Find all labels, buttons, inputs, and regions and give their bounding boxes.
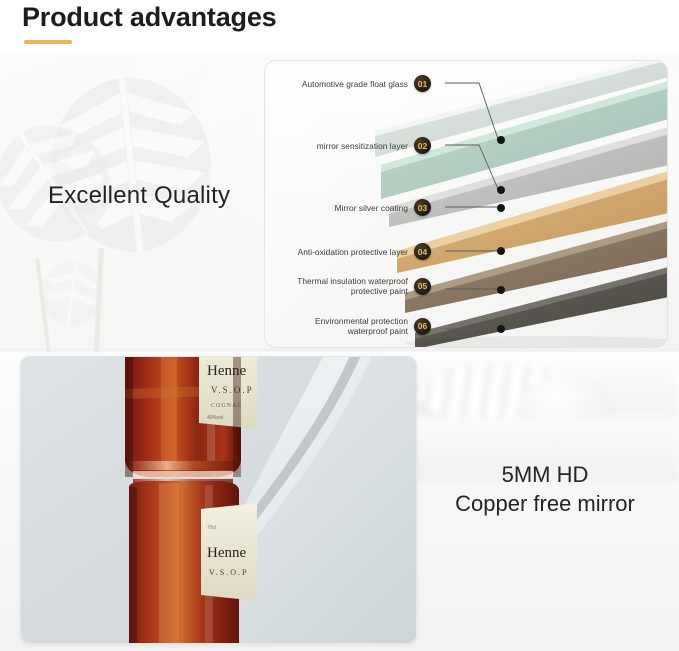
caption-line-1: 5MM HD (420, 460, 670, 489)
mirror-product-photo: Henne V.S.O.P COGNAC 40%vol 70cl Henne V… (20, 356, 417, 644)
layer-label-text: mirror sensitization layer (317, 141, 408, 151)
layer-number-badge: 03 (414, 199, 431, 216)
sofa-seam (410, 432, 560, 462)
layer-label-text: Mirror silver coating (335, 203, 408, 213)
layer-number-badge: 05 (414, 278, 431, 295)
svg-text:V.S.O.P: V.S.O.P (209, 568, 248, 577)
layer-number-badge: 06 (414, 318, 431, 335)
layer-number-badge: 01 (414, 75, 431, 92)
svg-text:V.S.O.P: V.S.O.P (211, 385, 254, 395)
page-title: Product advantages (22, 0, 276, 34)
layer-number-badge: 02 (414, 137, 431, 154)
title-accent-bar (24, 40, 72, 44)
leader-lines (265, 61, 668, 348)
layer-label-row-05: Thermal insulation waterproof protective… (297, 276, 431, 296)
svg-text:Henne: Henne (207, 545, 246, 561)
layer-label-text: Automotive grade float glass (302, 79, 408, 89)
layer-label-row-01: Automotive grade float glass 01 (302, 75, 431, 92)
product-photo-section: Henne V.S.O.P COGNAC 40%vol 70cl Henne V… (0, 352, 679, 651)
bottle-label: Henne V.S.O.P COGNAC 40%vol (199, 356, 257, 429)
monstera-leaf-icon (31, 253, 112, 334)
product-caption: 5MM HD Copper free mirror (420, 460, 670, 518)
layer-number-badge: 04 (414, 243, 431, 260)
layer-label-row-06: Environmental protection waterproof pain… (315, 316, 431, 336)
leader-dots (497, 136, 505, 333)
svg-text:70cl: 70cl (207, 525, 216, 531)
caption-line-2: Copper free mirror (420, 489, 670, 518)
layer-label-row-03: Mirror silver coating 03 (335, 199, 431, 216)
hennessy-bottle-photo: Henne V.S.O.P COGNAC 40%vol 70cl Henne V… (107, 356, 257, 644)
hero-heading: Excellent Quality (48, 182, 230, 210)
bottle-label-reflection: 70cl Henne V.S.O.P (201, 503, 257, 601)
layer-label-text: Environmental protection waterproof pain… (315, 316, 408, 336)
hero-section: Excellent Quality (0, 52, 679, 352)
svg-text:40%vol: 40%vol (207, 415, 223, 421)
layer-label-row-04: Anti-oxidation protective layer 04 (298, 243, 431, 260)
layer-label-text: Anti-oxidation protective layer (298, 247, 408, 257)
page-header: Product advantages (22, 0, 276, 44)
product-advantages-infographic: Product advantages (0, 0, 679, 651)
layer-label-row-02: mirror sensitization layer 02 (317, 137, 431, 154)
mirror-layer-structure-diagram: Automotive grade float glass 01 mirror s… (264, 60, 668, 348)
section-divider (0, 349, 679, 350)
layer-label-text: Thermal insulation waterproof protective… (297, 276, 408, 296)
